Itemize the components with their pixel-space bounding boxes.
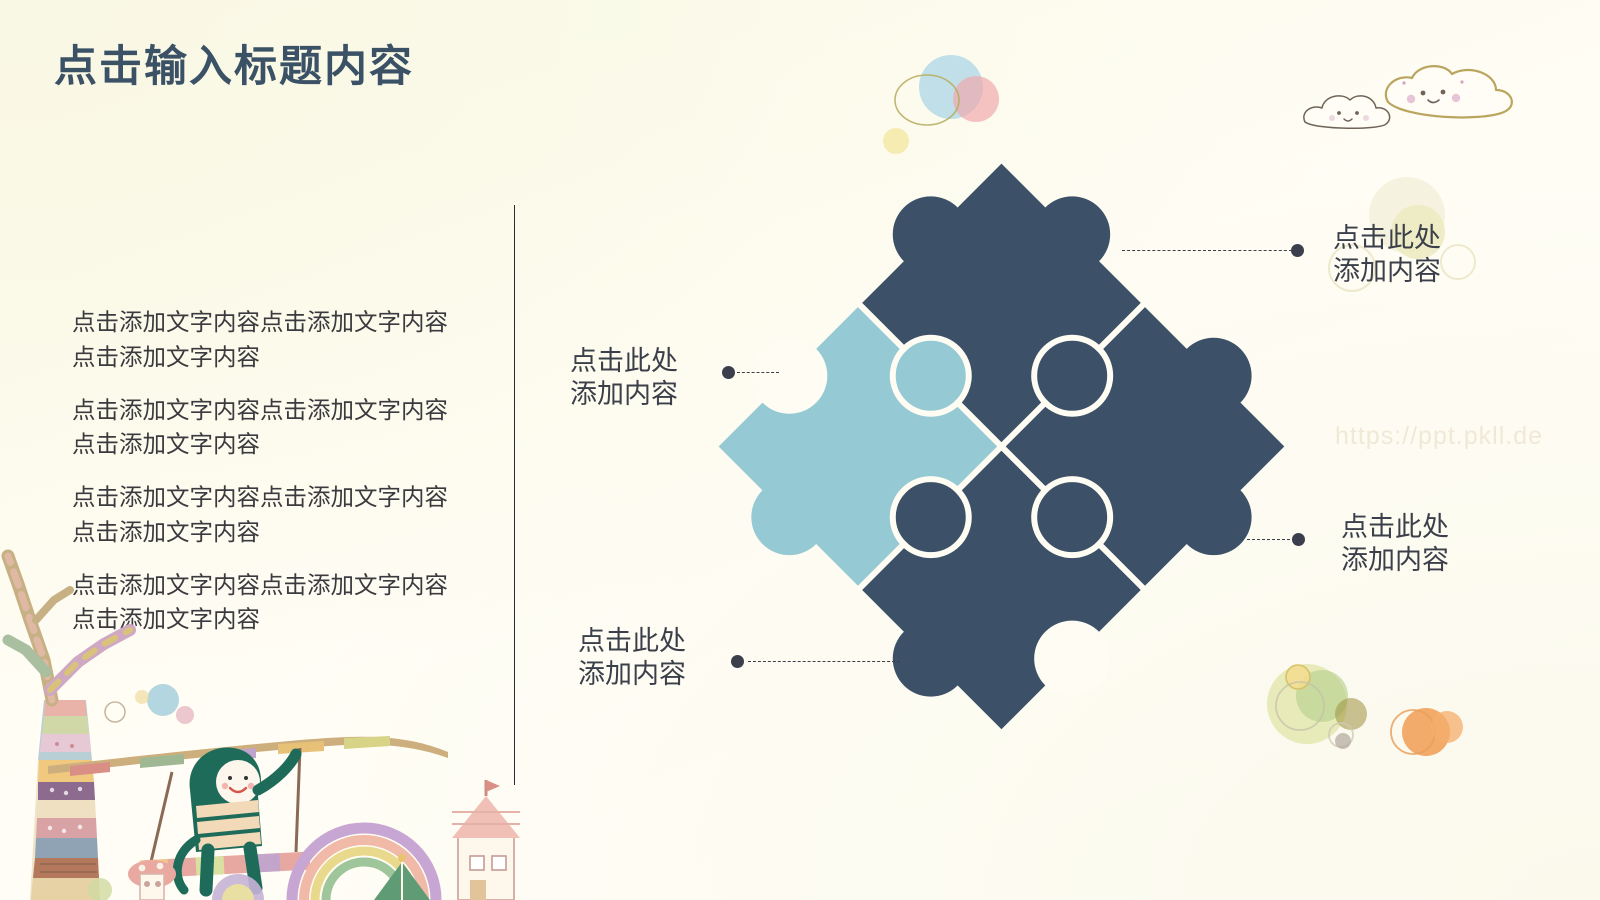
callout-top-right[interactable]: 点击此处 添加内容 <box>1333 222 1441 288</box>
page-title: 点击输入标题内容 <box>54 32 414 94</box>
connector-dot-bottom-left <box>731 655 744 668</box>
body-paragraph: 点击添加文字内容点击添加文字内容点击添加文字内容 <box>72 393 460 463</box>
callout-line-1: 点击此处 <box>1341 511 1449 544</box>
callout-line-1: 点击此处 <box>570 345 678 378</box>
body-text-block: 点击添加文字内容点击添加文字内容点击添加文字内容 点击添加文字内容点击添加文字内… <box>72 305 460 637</box>
connector-dot-top-right <box>1291 244 1304 257</box>
callout-line-2: 添加内容 <box>570 378 678 411</box>
callout-bottom-right[interactable]: 点击此处 添加内容 <box>1341 511 1449 577</box>
callout-line-2: 添加内容 <box>1341 544 1449 577</box>
callout-line-1: 点击此处 <box>1333 222 1441 255</box>
callout-line-2: 添加内容 <box>578 658 686 691</box>
connector-dot-bottom-right <box>1292 533 1305 546</box>
slide-canvas: 点击输入标题内容 点击添加文字内容点击添加文字内容点击添加文字内容 点击添加文字… <box>0 0 1600 900</box>
connector-line-bottom-right <box>1247 539 1295 541</box>
connector-dot-middle-left <box>722 366 735 379</box>
body-paragraph: 点击添加文字内容点击添加文字内容点击添加文字内容 <box>72 568 460 638</box>
connector-line-top-right <box>1122 250 1297 252</box>
connector-line-middle-left <box>737 372 779 374</box>
body-paragraph: 点击添加文字内容点击添加文字内容点击添加文字内容 <box>72 305 460 375</box>
watermark-url: https://ppt.pkll.de <box>1335 422 1543 451</box>
body-paragraph: 点击添加文字内容点击添加文字内容点击添加文字内容 <box>72 480 460 550</box>
connector-line-bottom-left <box>748 661 900 663</box>
callout-line-2: 添加内容 <box>1333 255 1441 288</box>
vertical-divider <box>514 205 515 785</box>
callout-line-1: 点击此处 <box>578 625 686 658</box>
callout-middle-left[interactable]: 点击此处 添加内容 <box>570 345 678 411</box>
callout-bottom-left[interactable]: 点击此处 添加内容 <box>578 625 686 691</box>
